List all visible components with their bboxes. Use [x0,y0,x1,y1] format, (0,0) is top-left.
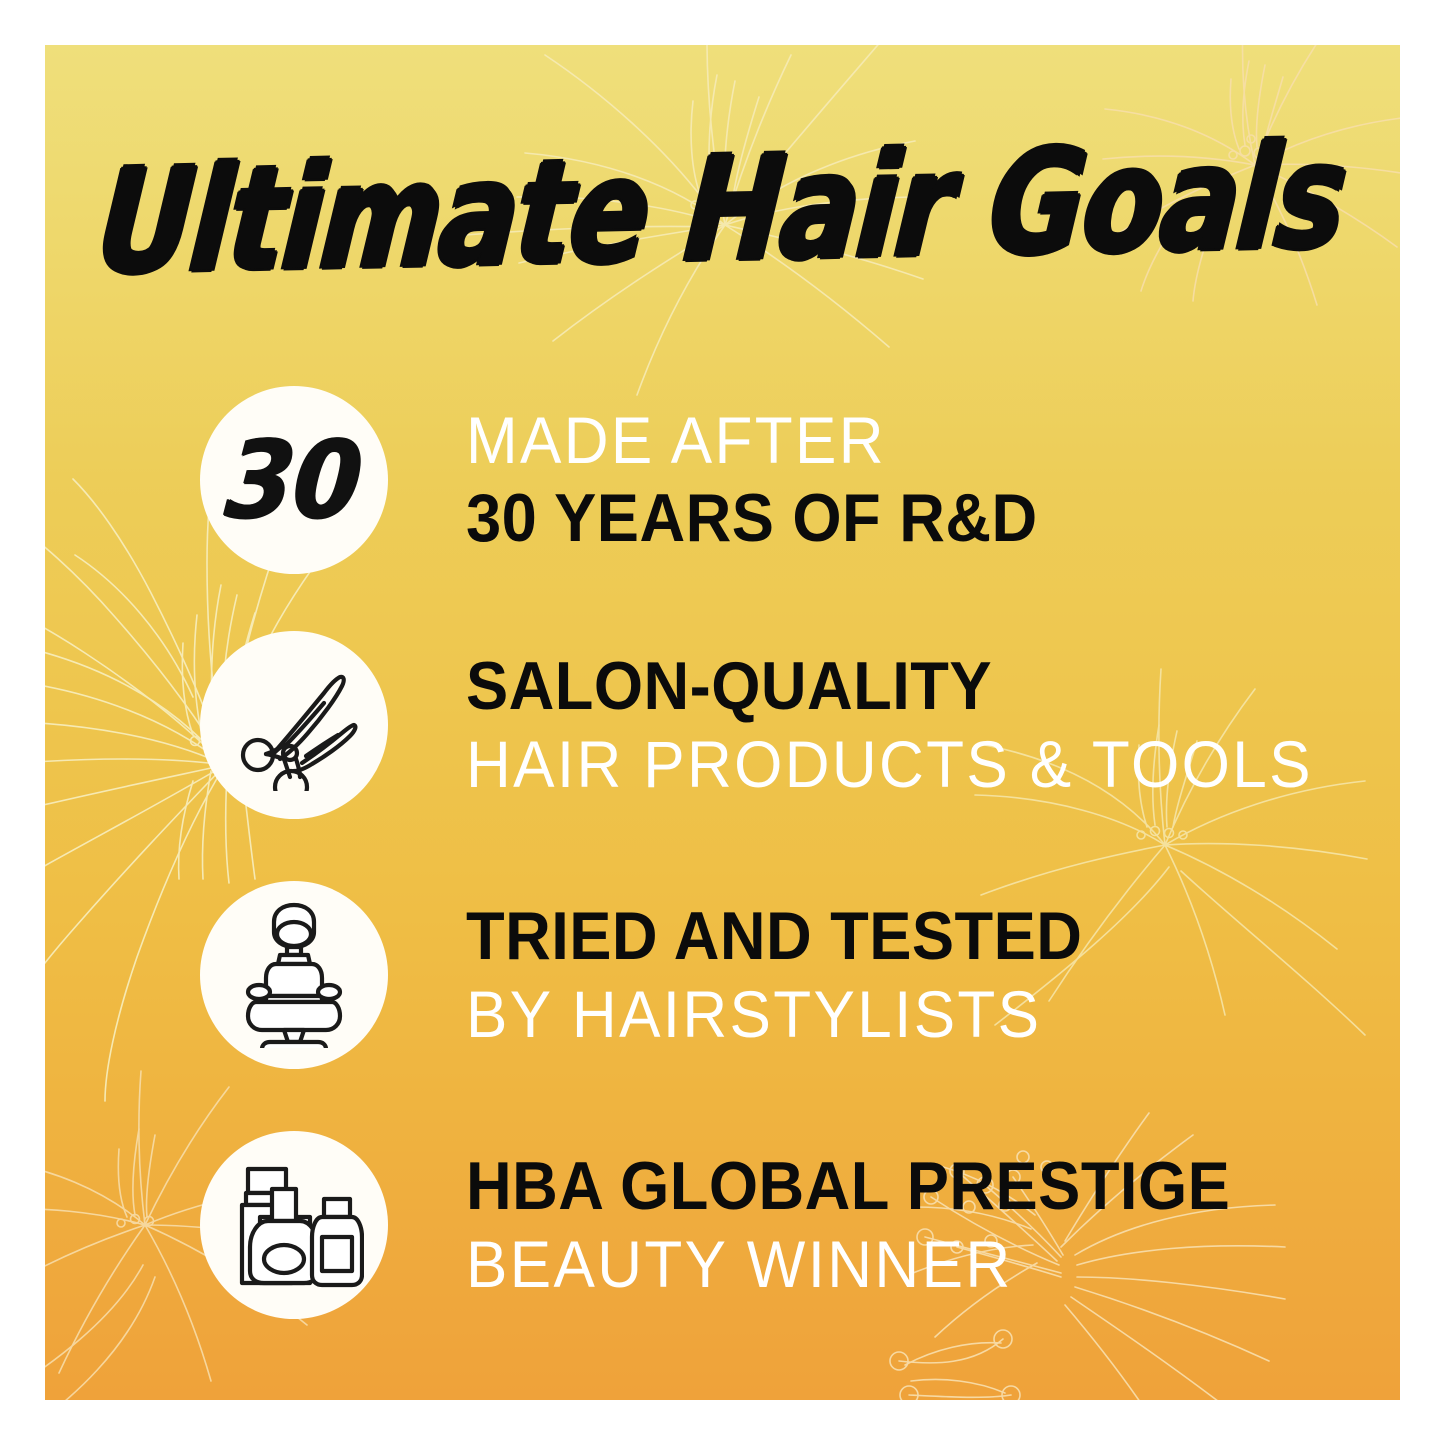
feature-line-primary: TRIED AND TESTED [466,902,1082,971]
feature-text-block: HBA GLOBAL PRESTIGE BEAUTY WINNER [466,1152,1288,1299]
feature-text-block: SALON-QUALITY HAIR PRODUCTS & TOOLS [466,652,1367,799]
poster-root: Ultimate Hair Goals 30 MADE AFTER 30 YEA… [0,0,1445,1445]
feature-line-primary: MADE AFTER [466,407,1044,474]
feature-row-made-after: 30 MADE AFTER 30 YEARS OF R&D [200,385,1400,575]
poster-title-container: Ultimate Hair Goals [45,150,1400,268]
feature-line-primary: HBA GLOBAL PRESTIGE [466,1152,1230,1221]
badge-number-label: 30 [222,426,365,534]
feature-line-secondary: BEAUTY WINNER [466,1231,1238,1298]
feature-row-hba-award: HBA GLOBAL PRESTIGE BEAUTY WINNER [200,1130,1400,1320]
salon-chair-icon [230,902,358,1048]
feature-line-secondary: 30 YEARS OF R&D [466,484,1038,553]
feature-text-block: TRIED AND TESTED BY HAIRSTYLISTS [466,902,1129,1049]
salon-chair-badge [200,881,388,1069]
feature-line-primary: SALON-QUALITY [466,652,1304,721]
number-30-badge-icon: 30 [200,386,388,574]
feature-row-tried-tested: TRIED AND TESTED BY HAIRSTYLISTS [200,880,1400,1070]
scissors-badge [200,631,388,819]
feature-text-block: MADE AFTER 30 YEARS OF R&D [466,407,1081,554]
feature-line-secondary: HAIR PRODUCTS & TOOLS [466,731,1313,798]
scissors-icon [228,659,360,791]
feature-line-secondary: BY HAIRSTYLISTS [466,981,1089,1048]
hair-products-icon [224,1159,364,1291]
feature-row-salon-quality: SALON-QUALITY HAIR PRODUCTS & TOOLS [200,630,1400,820]
poster-title: Ultimate Hair Goals [94,124,1351,294]
hair-products-badge [200,1131,388,1319]
gradient-panel: Ultimate Hair Goals 30 MADE AFTER 30 YEA… [45,45,1400,1400]
